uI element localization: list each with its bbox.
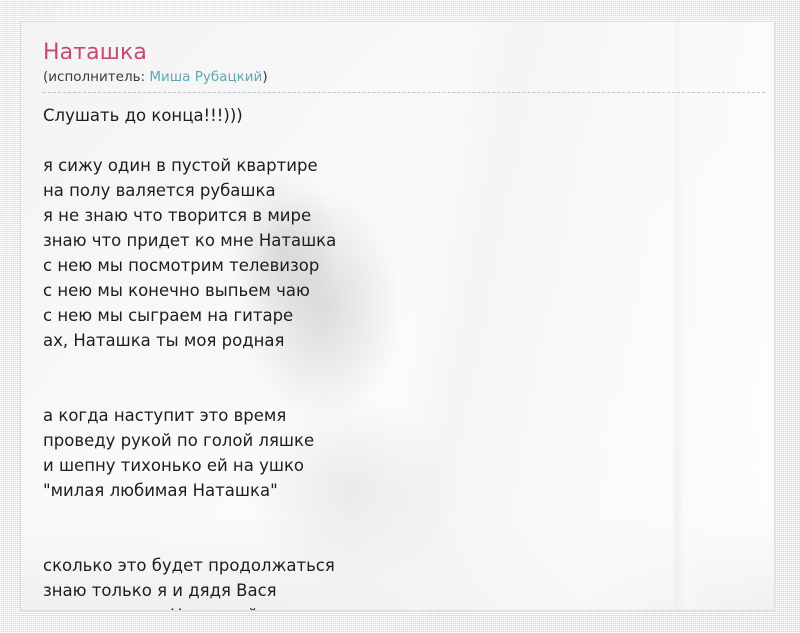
lyric-line: и шепну тихонько ей на ушко (43, 453, 752, 478)
lyric-line: ах, Наташка ты моя родная (43, 328, 752, 353)
lyric-line: на полу валяется рубашка (43, 178, 752, 203)
lyric-line: с нею мы сыграем на гитаре (43, 303, 752, 328)
lyric-line: Слушать до конца!!!))) (43, 103, 752, 128)
performer-link[interactable]: Миша Рубацкий (149, 69, 262, 85)
lyric-line: проведу рукой по голой ляшке (43, 428, 752, 453)
lyric-line-blank (43, 528, 752, 553)
lyrics-body: Слушать до конца!!!))) я сижу один в пус… (43, 93, 752, 611)
lyric-line-blank (43, 503, 752, 528)
lyric-line: с нею мы посмотрим телевизор (43, 253, 752, 278)
card-inner-content: Наташка (исполнитель: Миша Рубацкий) Слу… (21, 22, 774, 611)
lyric-line: я сижу один в пустой квартире (43, 153, 752, 178)
header-divider (43, 92, 765, 93)
page-title: Наташка (43, 40, 752, 66)
performer-prefix-label: (исполнитель: (43, 69, 149, 85)
lyric-line: знаю только я и дядя Вася (43, 578, 752, 603)
lyric-line: знаю что придет ко мне Наташка (43, 228, 752, 253)
song-content-card: Наташка (исполнитель: Миша Рубацкий) Слу… (20, 21, 775, 611)
performer-line: (исполнитель: Миша Рубацкий) (43, 68, 752, 92)
lyric-line: а когда наступит это время (43, 403, 752, 428)
lyric-line: я не знаю что творится в мире (43, 203, 752, 228)
lyric-line: с нею мы конечно выпьем чаю (43, 278, 752, 303)
lyric-line: "милая любимая Наташка" (43, 478, 752, 503)
lyric-line-blank (43, 128, 752, 153)
lyric-line-blank (43, 353, 752, 378)
lyric-line-blank (43, 378, 752, 403)
lyric-line: это я его зову Наташкой (43, 603, 752, 611)
lyric-line: сколько это будет продолжаться (43, 553, 752, 578)
performer-suffix-label: ) (262, 69, 267, 85)
